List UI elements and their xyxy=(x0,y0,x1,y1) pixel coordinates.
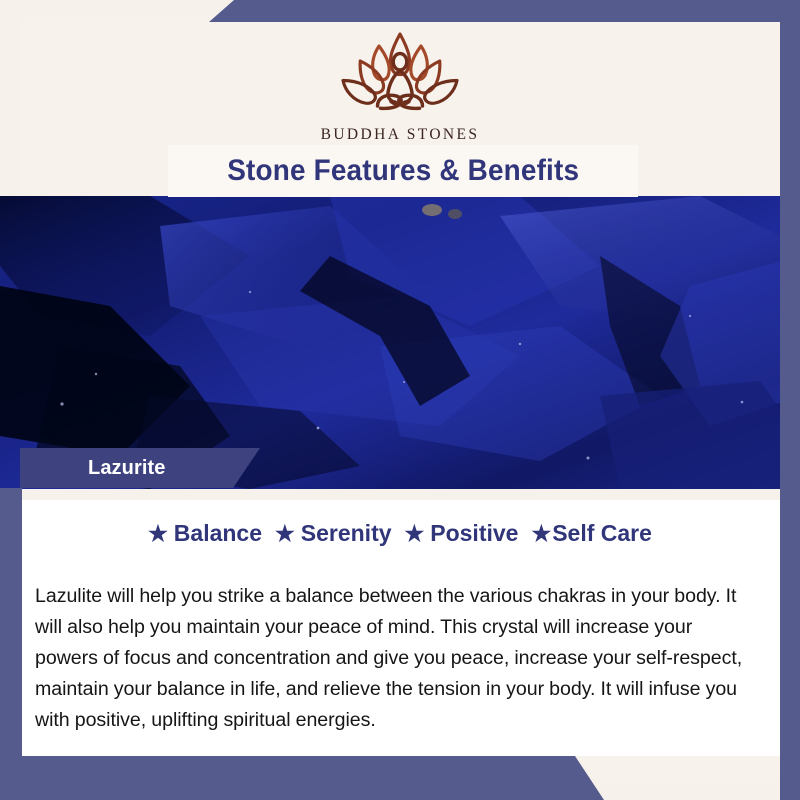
brand-name: BUDDHA STONES xyxy=(321,126,480,144)
trait-label: Balance xyxy=(174,520,262,547)
trait-item-serenity: ★ Serenity xyxy=(275,520,392,547)
star-icon: ★ xyxy=(531,523,551,545)
star-icon: ★ xyxy=(148,523,168,545)
trait-label: Serenity xyxy=(301,520,392,547)
stone-name-label: Lazurite xyxy=(20,457,165,480)
trait-item-positive: ★ Positive xyxy=(405,520,519,547)
trait-list: ★ Balance ★ Serenity ★ Positive ★ Self C… xyxy=(20,520,780,547)
frame-bar-right xyxy=(780,22,800,800)
trait-label: Self Care xyxy=(552,520,652,547)
lotus-meditation-logo-icon xyxy=(325,28,475,124)
trait-item-self-care: ★ Self Care xyxy=(531,520,651,547)
benefits-description: Lazulite will help you strike a balance … xyxy=(35,581,757,736)
frame-bar-top xyxy=(0,0,800,22)
trait-label: Positive xyxy=(430,520,518,547)
title-plaque: Stone Features & Benefits xyxy=(168,145,638,197)
panel-top-tint xyxy=(20,489,780,500)
trait-item-balance: ★ Balance xyxy=(148,520,262,547)
benefits-panel: ★ Balance ★ Serenity ★ Positive ★ Self C… xyxy=(20,489,780,756)
infographic-poster: BUDDHA STONES xyxy=(0,0,800,800)
frame-bar-left xyxy=(0,488,22,800)
star-icon: ★ xyxy=(405,523,425,545)
page-title: Stone Features & Benefits xyxy=(227,154,579,188)
stone-name-ribbon: Lazurite xyxy=(20,448,260,488)
star-icon: ★ xyxy=(275,523,295,545)
stone-photo xyxy=(0,196,800,489)
